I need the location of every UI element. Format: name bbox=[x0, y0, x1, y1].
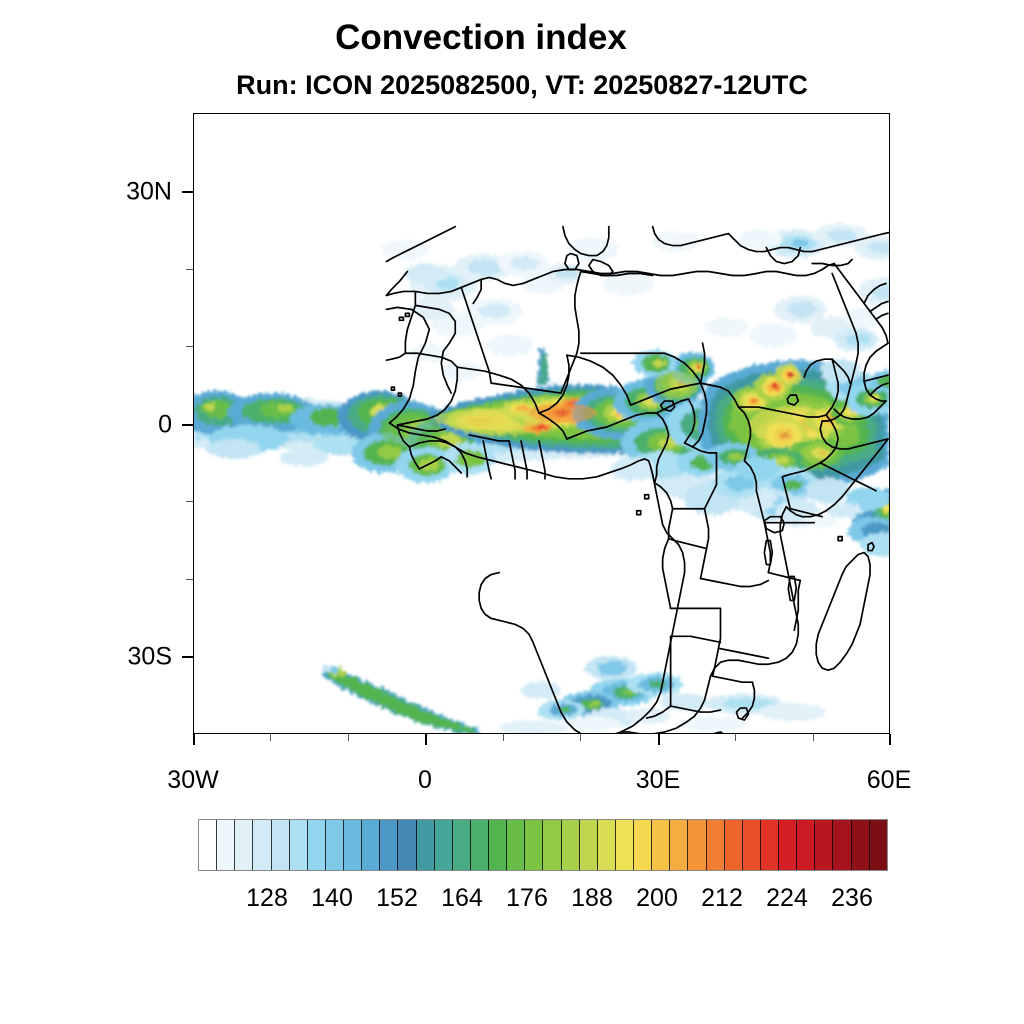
ytick-minor-10N bbox=[186, 346, 193, 347]
colorbar-label-200: 200 bbox=[636, 884, 678, 913]
xtick-major-60E bbox=[889, 734, 891, 745]
colorbar-cell-31 bbox=[761, 820, 779, 870]
colorbar-cell-19 bbox=[543, 820, 561, 870]
colorbar-cell-6 bbox=[308, 820, 326, 870]
colorbar-cell-34 bbox=[815, 820, 833, 870]
ytick-minor-10S bbox=[186, 501, 193, 502]
colorbar-cell-8 bbox=[344, 820, 362, 870]
colorbar-label-236: 236 bbox=[831, 884, 873, 913]
colorbar-cell-4 bbox=[272, 820, 290, 870]
colorbar-cell-21 bbox=[580, 820, 598, 870]
colorbar-cell-23 bbox=[616, 820, 634, 870]
ytick-label-0: 0 bbox=[100, 411, 172, 440]
colorbar-label-164: 164 bbox=[441, 884, 483, 913]
colorbar-cell-1 bbox=[217, 820, 235, 870]
colorbar-cell-17 bbox=[507, 820, 525, 870]
colorbar-cell-3 bbox=[253, 820, 271, 870]
colorbar-cell-32 bbox=[779, 820, 797, 870]
colorbar-cell-13 bbox=[435, 820, 453, 870]
xtick-minor-20E bbox=[580, 734, 581, 741]
ytick-label-30N: 30N bbox=[100, 178, 172, 207]
colorbar-cell-30 bbox=[743, 820, 761, 870]
xtick-label-0: 0 bbox=[418, 766, 432, 795]
colorbar-cell-2 bbox=[235, 820, 253, 870]
xtick-minor-10W bbox=[348, 734, 349, 741]
ytick-minor-20N bbox=[186, 269, 193, 270]
colorbar-cell-26 bbox=[670, 820, 688, 870]
colorbar-cell-33 bbox=[797, 820, 815, 870]
colorbar-cell-9 bbox=[362, 820, 380, 870]
colorbar-cell-5 bbox=[290, 820, 308, 870]
run-valid-time-subtitle: Run: ICON 2025082500, VT: 20250827-12UTC bbox=[10, 70, 1024, 101]
xtick-minor-40E bbox=[735, 734, 736, 741]
colorbar-cell-22 bbox=[598, 820, 616, 870]
xtick-minor-20W bbox=[270, 734, 271, 741]
ytick-minor-20S bbox=[186, 579, 193, 580]
colorbar-label-212: 212 bbox=[701, 884, 743, 913]
colorbar-cell-10 bbox=[380, 820, 398, 870]
colorbar-cell-27 bbox=[688, 820, 706, 870]
ytick-major-30N bbox=[182, 191, 193, 193]
colorbar-cell-29 bbox=[725, 820, 743, 870]
colorbar-cell-25 bbox=[652, 820, 670, 870]
colorbar-cell-7 bbox=[326, 820, 344, 870]
xtick-label-30W: 30W bbox=[167, 766, 218, 795]
colorbar-cell-16 bbox=[489, 820, 507, 870]
colorbar-label-152: 152 bbox=[376, 884, 418, 913]
map-plot-area[interactable] bbox=[193, 113, 890, 734]
colorbar-cell-20 bbox=[562, 820, 580, 870]
colorbar-cell-12 bbox=[417, 820, 435, 870]
colorbar-label-224: 224 bbox=[766, 884, 808, 913]
colorbar-label-188: 188 bbox=[571, 884, 613, 913]
xtick-label-60E: 60E bbox=[867, 766, 911, 795]
page-title: Convection index bbox=[0, 18, 993, 58]
colorbar[interactable] bbox=[198, 819, 888, 871]
xtick-major-30W bbox=[193, 734, 195, 745]
xtick-major-0 bbox=[425, 734, 427, 745]
colorbar-cell-24 bbox=[634, 820, 652, 870]
map-canvas bbox=[194, 114, 889, 733]
colorbar-cell-28 bbox=[707, 820, 725, 870]
convection-index-figure: Convection index Run: ICON 2025082500, V… bbox=[0, 0, 1024, 1024]
colorbar-cell-37 bbox=[870, 820, 887, 870]
colorbar-cell-36 bbox=[852, 820, 870, 870]
colorbar-label-140: 140 bbox=[311, 884, 353, 913]
colorbar-label-128: 128 bbox=[246, 884, 288, 913]
xtick-minor-50E bbox=[813, 734, 814, 741]
colorbar-cell-14 bbox=[453, 820, 471, 870]
colorbar-cell-0 bbox=[199, 820, 217, 870]
xtick-minor-10E bbox=[503, 734, 504, 741]
ytick-major-30S bbox=[182, 656, 193, 658]
colorbar-cell-35 bbox=[833, 820, 851, 870]
colorbar-cell-18 bbox=[525, 820, 543, 870]
ytick-major-0 bbox=[182, 424, 193, 426]
ytick-label-30S: 30S bbox=[100, 643, 172, 672]
colorbar-cell-15 bbox=[471, 820, 489, 870]
colorbar-label-176: 176 bbox=[506, 884, 548, 913]
xtick-major-30E bbox=[658, 734, 660, 745]
xtick-label-30E: 30E bbox=[636, 766, 680, 795]
colorbar-cell-11 bbox=[398, 820, 416, 870]
colorbar-swatches[interactable] bbox=[198, 819, 888, 871]
